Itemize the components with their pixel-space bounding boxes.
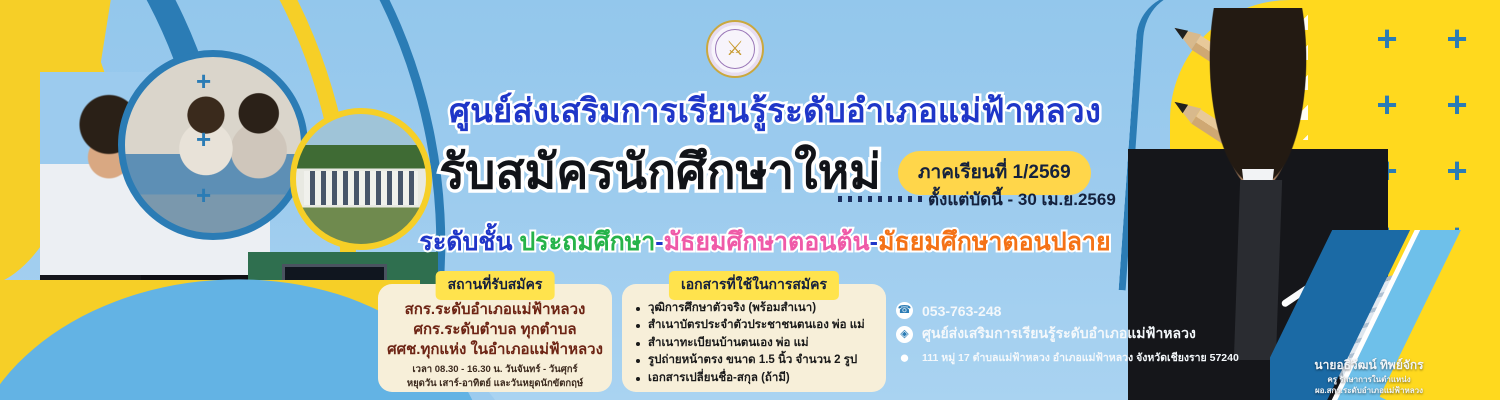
director-role-line-2: ผอ.สกร.ระดับอำเภอแม่ฟ้าหลวง — [1246, 386, 1492, 397]
levels-label: ระดับชั้น — [419, 228, 512, 256]
level-separator: - — [655, 228, 663, 256]
documents-card-body: วุฒิการศึกษาตัวจริง (พร้อมสำเนา) สำเนาบั… — [622, 300, 886, 387]
documents-list: วุฒิการศึกษาตัวจริง (พร้อมสำเนา) สำเนาบั… — [630, 300, 878, 387]
globe-icon: ◈ — [896, 326, 913, 343]
director-role-line-1: ครู รักษาการในตำแหน่ง — [1246, 375, 1492, 386]
list-item: เอกสารเปลี่ยนชื่อ-สกุล (ถ้ามี) — [648, 370, 878, 387]
seal-inner-emblem: ⚔ — [715, 29, 755, 69]
level-lower-secondary: มัธยมศึกษาตอนต้น — [664, 228, 870, 256]
list-item: สำเนาบัตรประจำตัวประชาชนตนเอง พ่อ แม่ — [648, 317, 878, 334]
page-title: ศูนย์ส่งเสริมการเรียนรู้ระดับอำเภอแม่ฟ้า… — [395, 84, 1155, 137]
list-item: รูปถ่ายหน้าตรง ขนาด 1.5 นิ้ว จำนวน 2 รูป — [648, 352, 878, 369]
deadline-text: ตั้งแต่บัดนี้ - 30 เม.ย.2569 — [928, 186, 1116, 213]
documents-card-title: เอกสารที่ใช้ในการสมัคร — [669, 271, 839, 300]
documents-card: เอกสารที่ใช้ในการสมัคร วุฒิการศึกษาตัวจร… — [622, 284, 886, 392]
location-pin-icon: ● — [896, 349, 913, 366]
place-line: ศกร.ระดับตำบล ทุกตำบล — [386, 320, 604, 340]
contact-phone: 053-763-248 — [922, 303, 1001, 319]
plus-decor-icon: + — [196, 126, 211, 152]
education-levels: ระดับชั้น ประถมศึกษา-มัธยมศึกษาตอนต้น-มั… — [395, 222, 1135, 262]
plus-decor-icon: + — [196, 68, 211, 94]
place-note: หยุดวัน เสาร์-อาทิตย์ และวันหยุดนักขัตกฤ… — [386, 377, 604, 391]
place-line: ศศช.ทุกแห่ง ในอำเภอแม่ฟ้าหลวง — [386, 340, 604, 360]
plus-decor-icon: + — [1446, 153, 1467, 189]
list-item: วุฒิการศึกษาตัวจริง (พร้อมสำเนา) — [648, 300, 878, 317]
level-upper-secondary: มัธยมศึกษาตอนปลาย — [878, 228, 1111, 256]
director-name: นายอธิวัฒน์ ทิพย์จักร — [1246, 356, 1492, 375]
contact-row-address: ● 111 หมู่ 17 ตำบลแม่ฟ้าหลวง อำเภอแม่ฟ้า… — [896, 349, 1296, 366]
place-note: เวลา 08.30 - 16.30 น. วันจันทร์ - วันศุก… — [386, 363, 604, 377]
contact-block: ☎ 053-763-248 ◈ ศูนย์ส่งเสริมการเรียนรู้… — [896, 302, 1296, 370]
level-primary: ประถมศึกษา — [519, 228, 655, 256]
director-credit: นายอธิวัฒน์ ทิพย์จักร ครู รักษาการในตำแห… — [1246, 356, 1492, 397]
contact-row-organization: ◈ ศูนย์ส่งเสริมการเรียนรู้ระดับอำเภอแม่ฟ… — [896, 323, 1296, 345]
places-card-title: สถานที่รับสมัคร — [436, 271, 555, 300]
dotted-divider — [838, 196, 924, 202]
government-seal-icon: ⚔ — [706, 20, 764, 78]
places-card: สถานที่รับสมัคร สกร.ระดับอำเภอแม่ฟ้าหลวง… — [378, 284, 612, 392]
contact-organization: ศูนย์ส่งเสริมการเรียนรู้ระดับอำเภอแม่ฟ้า… — [922, 323, 1196, 345]
contact-address: 111 หมู่ 17 ตำบลแม่ฟ้าหลวง อำเภอแม่ฟ้าหล… — [922, 349, 1239, 366]
place-line: สกร.ระดับอำเภอแม่ฟ้าหลวง — [386, 300, 604, 320]
enrollment-banner: + + + + + + + + + + + + + ⚔ ศูนย์ส่งเสริ… — [0, 0, 1500, 400]
plus-decor-icon: + — [1446, 21, 1467, 57]
photo-circle-classroom — [118, 50, 308, 240]
plus-decor-icon: + — [196, 182, 211, 208]
list-item: สำเนาทะเบียนบ้านตนเอง พ่อ แม่ — [648, 335, 878, 352]
plus-decor-icon: + — [1446, 87, 1467, 123]
phone-icon: ☎ — [896, 302, 913, 319]
contact-row-phone: ☎ 053-763-248 — [896, 302, 1296, 319]
level-separator: - — [870, 228, 878, 256]
places-card-body: สกร.ระดับอำเภอแม่ฟ้าหลวง ศกร.ระดับตำบล ท… — [378, 300, 612, 391]
